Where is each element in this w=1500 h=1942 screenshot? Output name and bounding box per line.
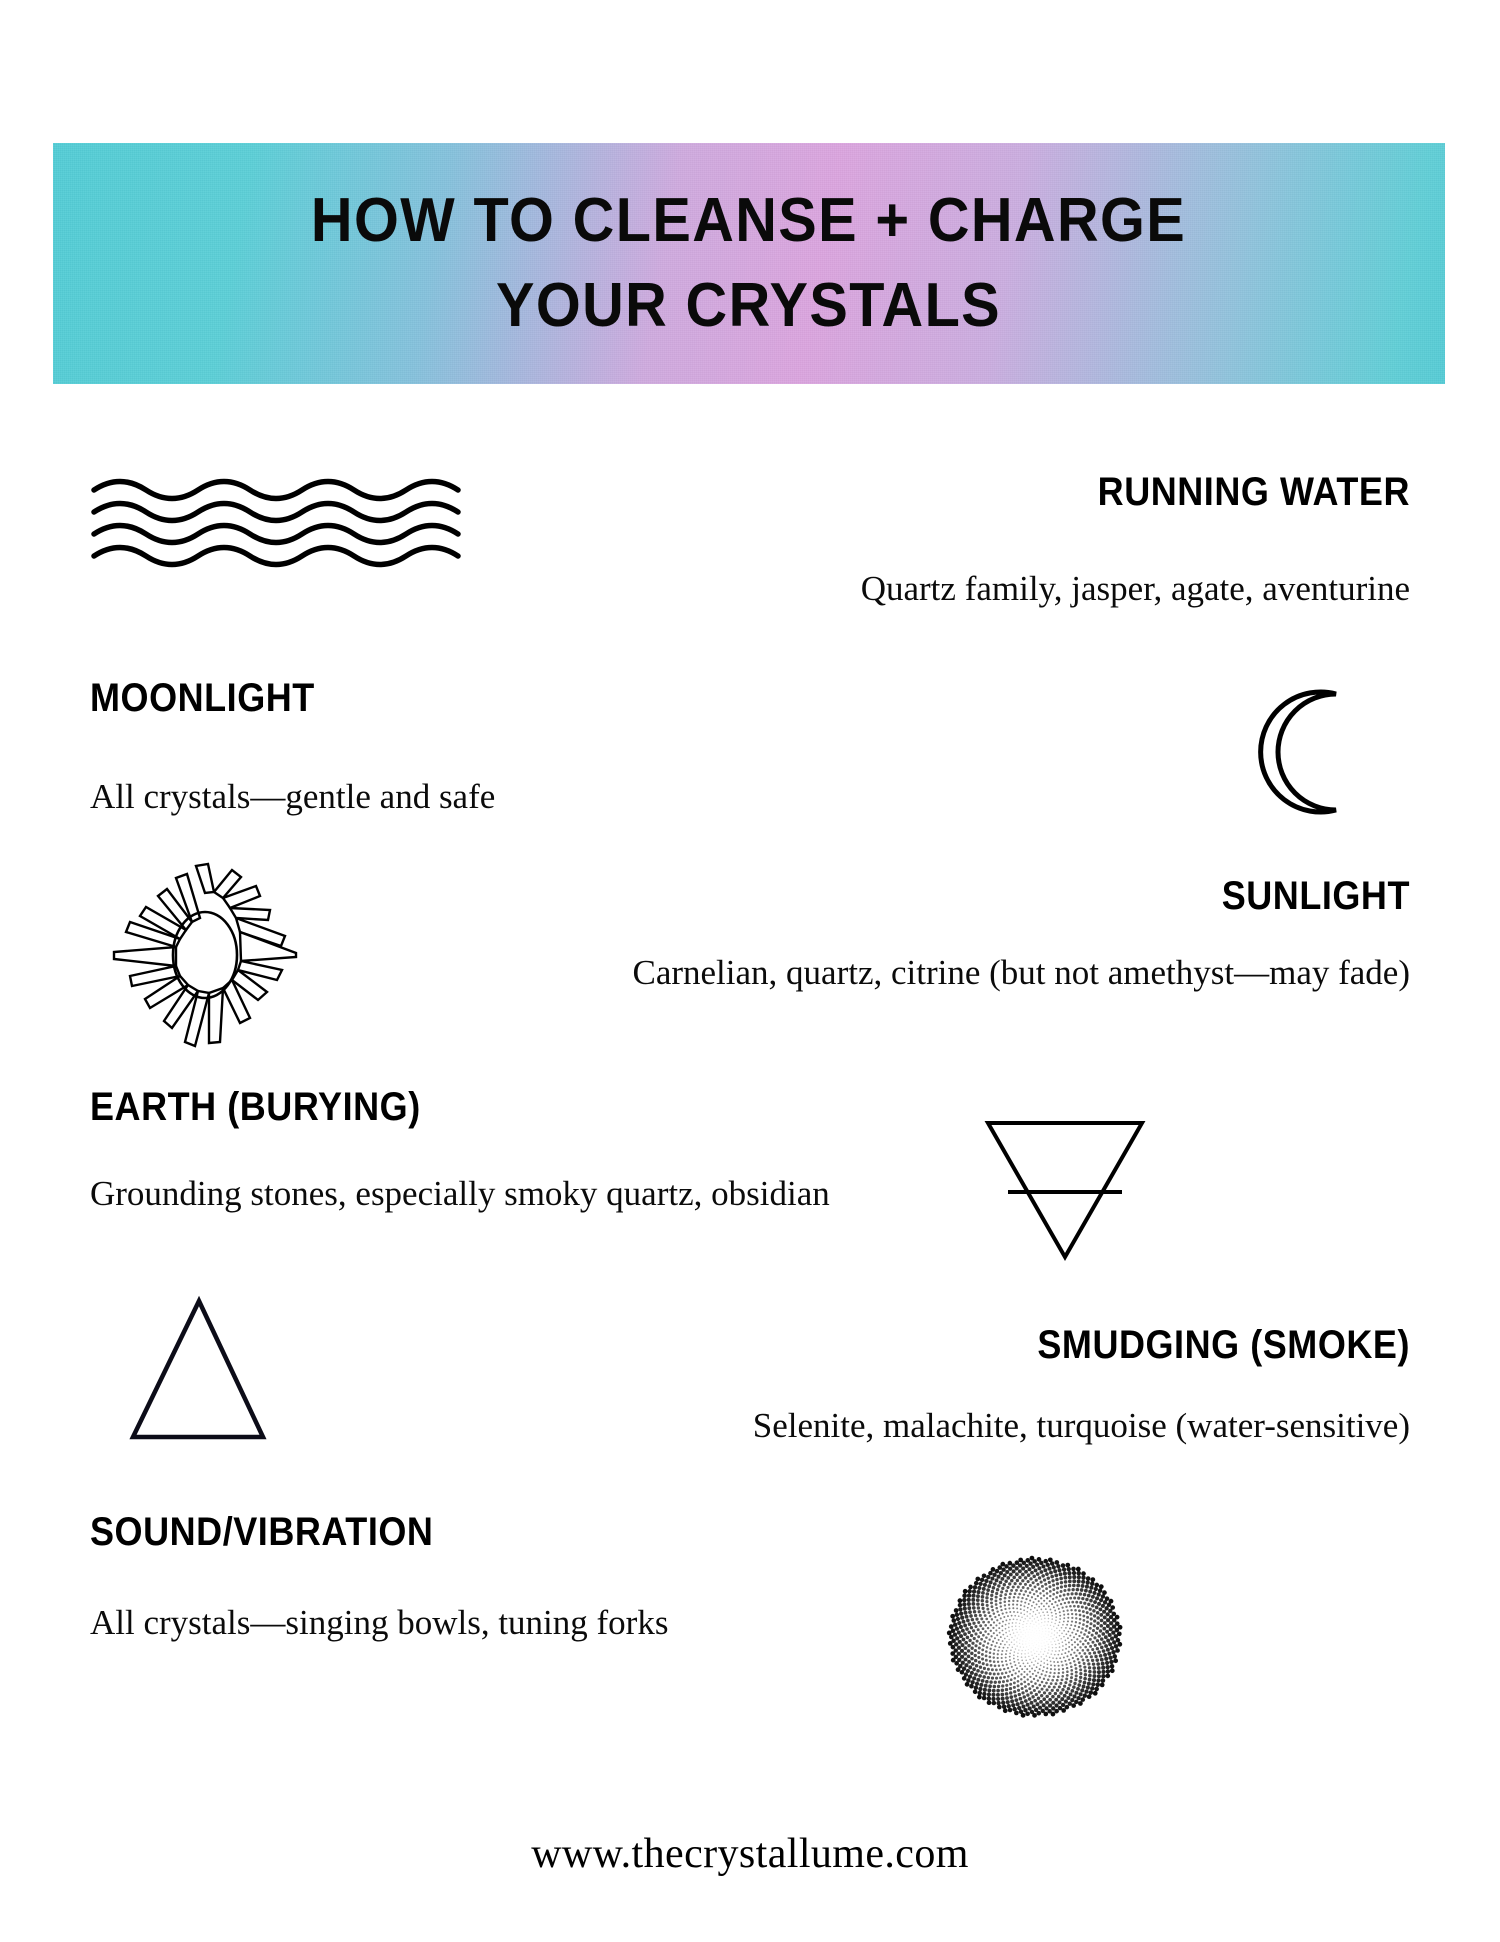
fire-triangle-icon-cell <box>90 1295 320 1445</box>
section-sunlight: SUNLIGHT Carnelian, quartz, citrine (but… <box>90 860 1410 1050</box>
section-moonlight: MOONLIGHT All crystals—gentle and safe <box>90 676 1410 823</box>
section-heading-sound-vibration: SOUND/VIBRATION <box>90 1510 774 1555</box>
footer-website: www.thecrystallume.com <box>0 1830 1500 1878</box>
sunlight-text: SUNLIGHT Carnelian, quartz, citrine (but… <box>320 860 1410 999</box>
section-running-water: RUNNING WATER Quartz family, jasper, aga… <box>90 470 1410 615</box>
page-title: HOW TO CLEANSE + CHARGE YOUR CRYSTALS <box>274 179 1224 348</box>
section-sound-vibration: SOUND/VIBRATION All crystals—singing bow… <box>90 1510 1410 1725</box>
section-heading-running-water: RUNNING WATER <box>654 470 1410 515</box>
section-body-sound-vibration: All crystals—singing bowls, tuning forks <box>90 1597 790 1650</box>
earth-triangle-icon <box>980 1115 1150 1265</box>
infographic-page: HOW TO CLEANSE + CHARGE YOUR CRYSTALS RU… <box>0 0 1500 1942</box>
spiral-icon-cell <box>910 1510 1160 1725</box>
section-heading-earth-burying: EARTH (BURYING) <box>90 1085 801 1130</box>
page-title-line-2: YOUR CRYSTALS <box>496 271 1001 340</box>
sun-icon-cell <box>90 860 320 1050</box>
spiral-icon <box>943 1550 1128 1725</box>
waves-icon <box>90 470 510 570</box>
crescent-moon-icon <box>1244 686 1376 818</box>
earth-text: EARTH (BURYING) Grounding stones, especi… <box>90 1085 950 1220</box>
section-heading-moonlight: MOONLIGHT <box>90 676 1044 721</box>
fire-triangle-icon <box>125 1295 285 1445</box>
sound-text: SOUND/VIBRATION All crystals—singing bow… <box>90 1510 910 1649</box>
waves-icon-cell <box>90 470 510 570</box>
crescent-moon-icon-cell <box>1210 676 1410 818</box>
section-body-running-water: Quartz family, jasper, agate, aventurine <box>570 563 1410 616</box>
sun-icon <box>110 860 300 1050</box>
section-earth-burying: EARTH (BURYING) Grounding stones, especi… <box>90 1085 1410 1265</box>
header-banner: HOW TO CLEANSE + CHARGE YOUR CRYSTALS <box>53 143 1445 384</box>
moonlight-text: MOONLIGHT All crystals—gentle and safe <box>90 676 1210 823</box>
section-heading-smudging-smoke: SMUDGING (SMOKE) <box>483 1323 1410 1368</box>
running-water-text: RUNNING WATER Quartz family, jasper, aga… <box>510 470 1410 615</box>
section-body-earth-burying: Grounding stones, especially smoky quart… <box>90 1168 870 1221</box>
page-title-line-1: HOW TO CLEANSE + CHARGE <box>311 186 1186 255</box>
section-body-sunlight: Carnelian, quartz, citrine (but not amet… <box>610 947 1410 1000</box>
earth-triangle-icon-cell <box>950 1085 1180 1265</box>
section-heading-sunlight: SUNLIGHT <box>483 874 1410 919</box>
smudging-text: SMUDGING (SMOKE) Selenite, malachite, tu… <box>320 1295 1410 1452</box>
section-smudging-smoke: SMUDGING (SMOKE) Selenite, malachite, tu… <box>90 1295 1410 1452</box>
section-body-moonlight: All crystals—gentle and safe <box>90 771 1150 824</box>
section-body-smudging-smoke: Selenite, malachite, turquoise (water-se… <box>650 1400 1410 1453</box>
